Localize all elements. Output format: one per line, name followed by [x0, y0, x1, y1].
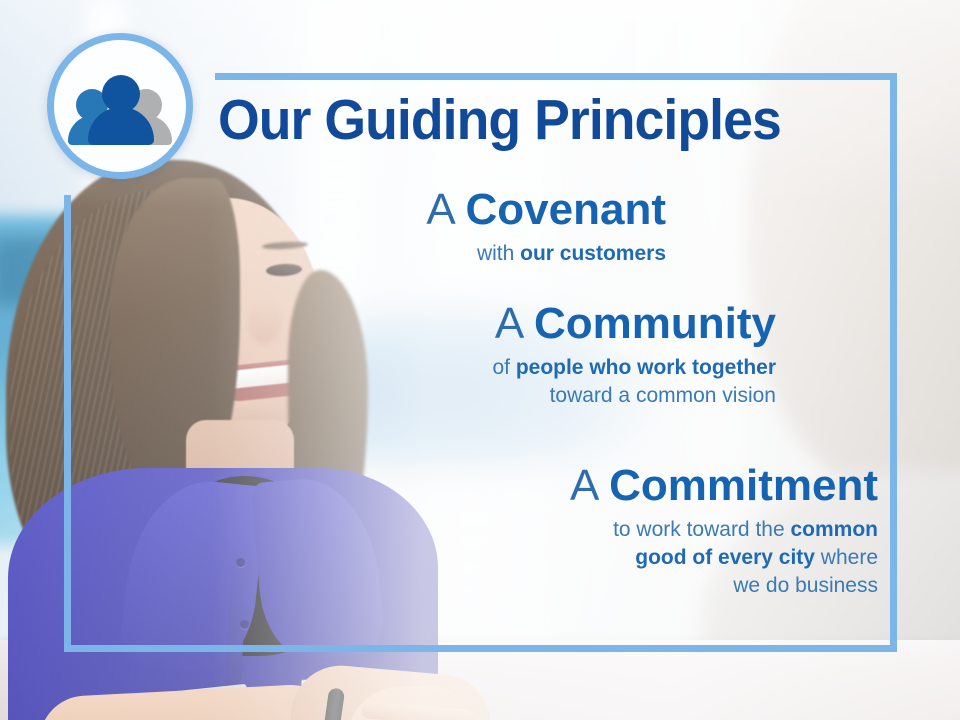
page-title: Our Guiding Principles — [218, 92, 781, 149]
principle-covenant-lead: A Covenant — [150, 186, 666, 234]
shirt-button-1 — [236, 558, 245, 567]
sub-span: with — [477, 242, 520, 265]
principle-community-sub: of people who work together toward a com… — [200, 354, 776, 410]
frame-bottom-edge — [64, 645, 897, 652]
principle-community-sub-line-1: of people who work together — [200, 354, 776, 382]
principle-covenant-sub: with our customers — [150, 240, 666, 268]
principle-community-word: Community — [534, 299, 776, 348]
principle-covenant: A Covenant with our customers — [150, 186, 666, 268]
principle-commitment-sub-line-1: to work toward the common — [250, 516, 878, 544]
principle-community-prefix: A — [495, 299, 534, 348]
shirt-button-2 — [240, 620, 249, 629]
frame-left-edge — [64, 195, 71, 652]
people-badge — [47, 33, 193, 179]
principle-commitment-sub: to work toward the common good of every … — [250, 516, 878, 600]
frame-right-edge — [890, 73, 897, 652]
sub-span-strong: our customers — [520, 242, 666, 265]
frame-top-edge — [215, 73, 897, 80]
people-group-icon — [68, 69, 172, 143]
principle-commitment-word: Commitment — [609, 461, 878, 510]
principle-community: A Community of people who work together … — [200, 300, 776, 410]
sub-span: we do business — [733, 574, 878, 597]
principle-commitment: A Commitment to work toward the common g… — [250, 462, 878, 600]
sub-span-strong: people who work together — [516, 356, 776, 379]
principle-covenant-word: Covenant — [466, 185, 666, 234]
sub-span-strong: good of every city — [635, 546, 815, 569]
principle-commitment-prefix: A — [570, 461, 609, 510]
sub-span: where — [815, 546, 878, 569]
principle-community-sub-line-2: toward a common vision — [200, 382, 776, 410]
principle-community-lead: A Community — [200, 300, 776, 348]
principle-commitment-sub-line-3: we do business — [250, 572, 878, 600]
principle-commitment-lead: A Commitment — [250, 462, 878, 510]
sub-span: toward a common vision — [550, 384, 776, 407]
principle-covenant-sub-line-1: with our customers — [150, 240, 666, 268]
sub-span: of — [492, 356, 515, 379]
principle-covenant-prefix: A — [426, 185, 465, 234]
sub-span: to work toward the — [613, 518, 790, 541]
sub-span-strong: common — [790, 518, 878, 541]
guiding-principles-graphic: FLOW AUTOMOTIVE FLOW — [0, 0, 960, 720]
principle-commitment-sub-line-2: good of every city where — [250, 544, 878, 572]
